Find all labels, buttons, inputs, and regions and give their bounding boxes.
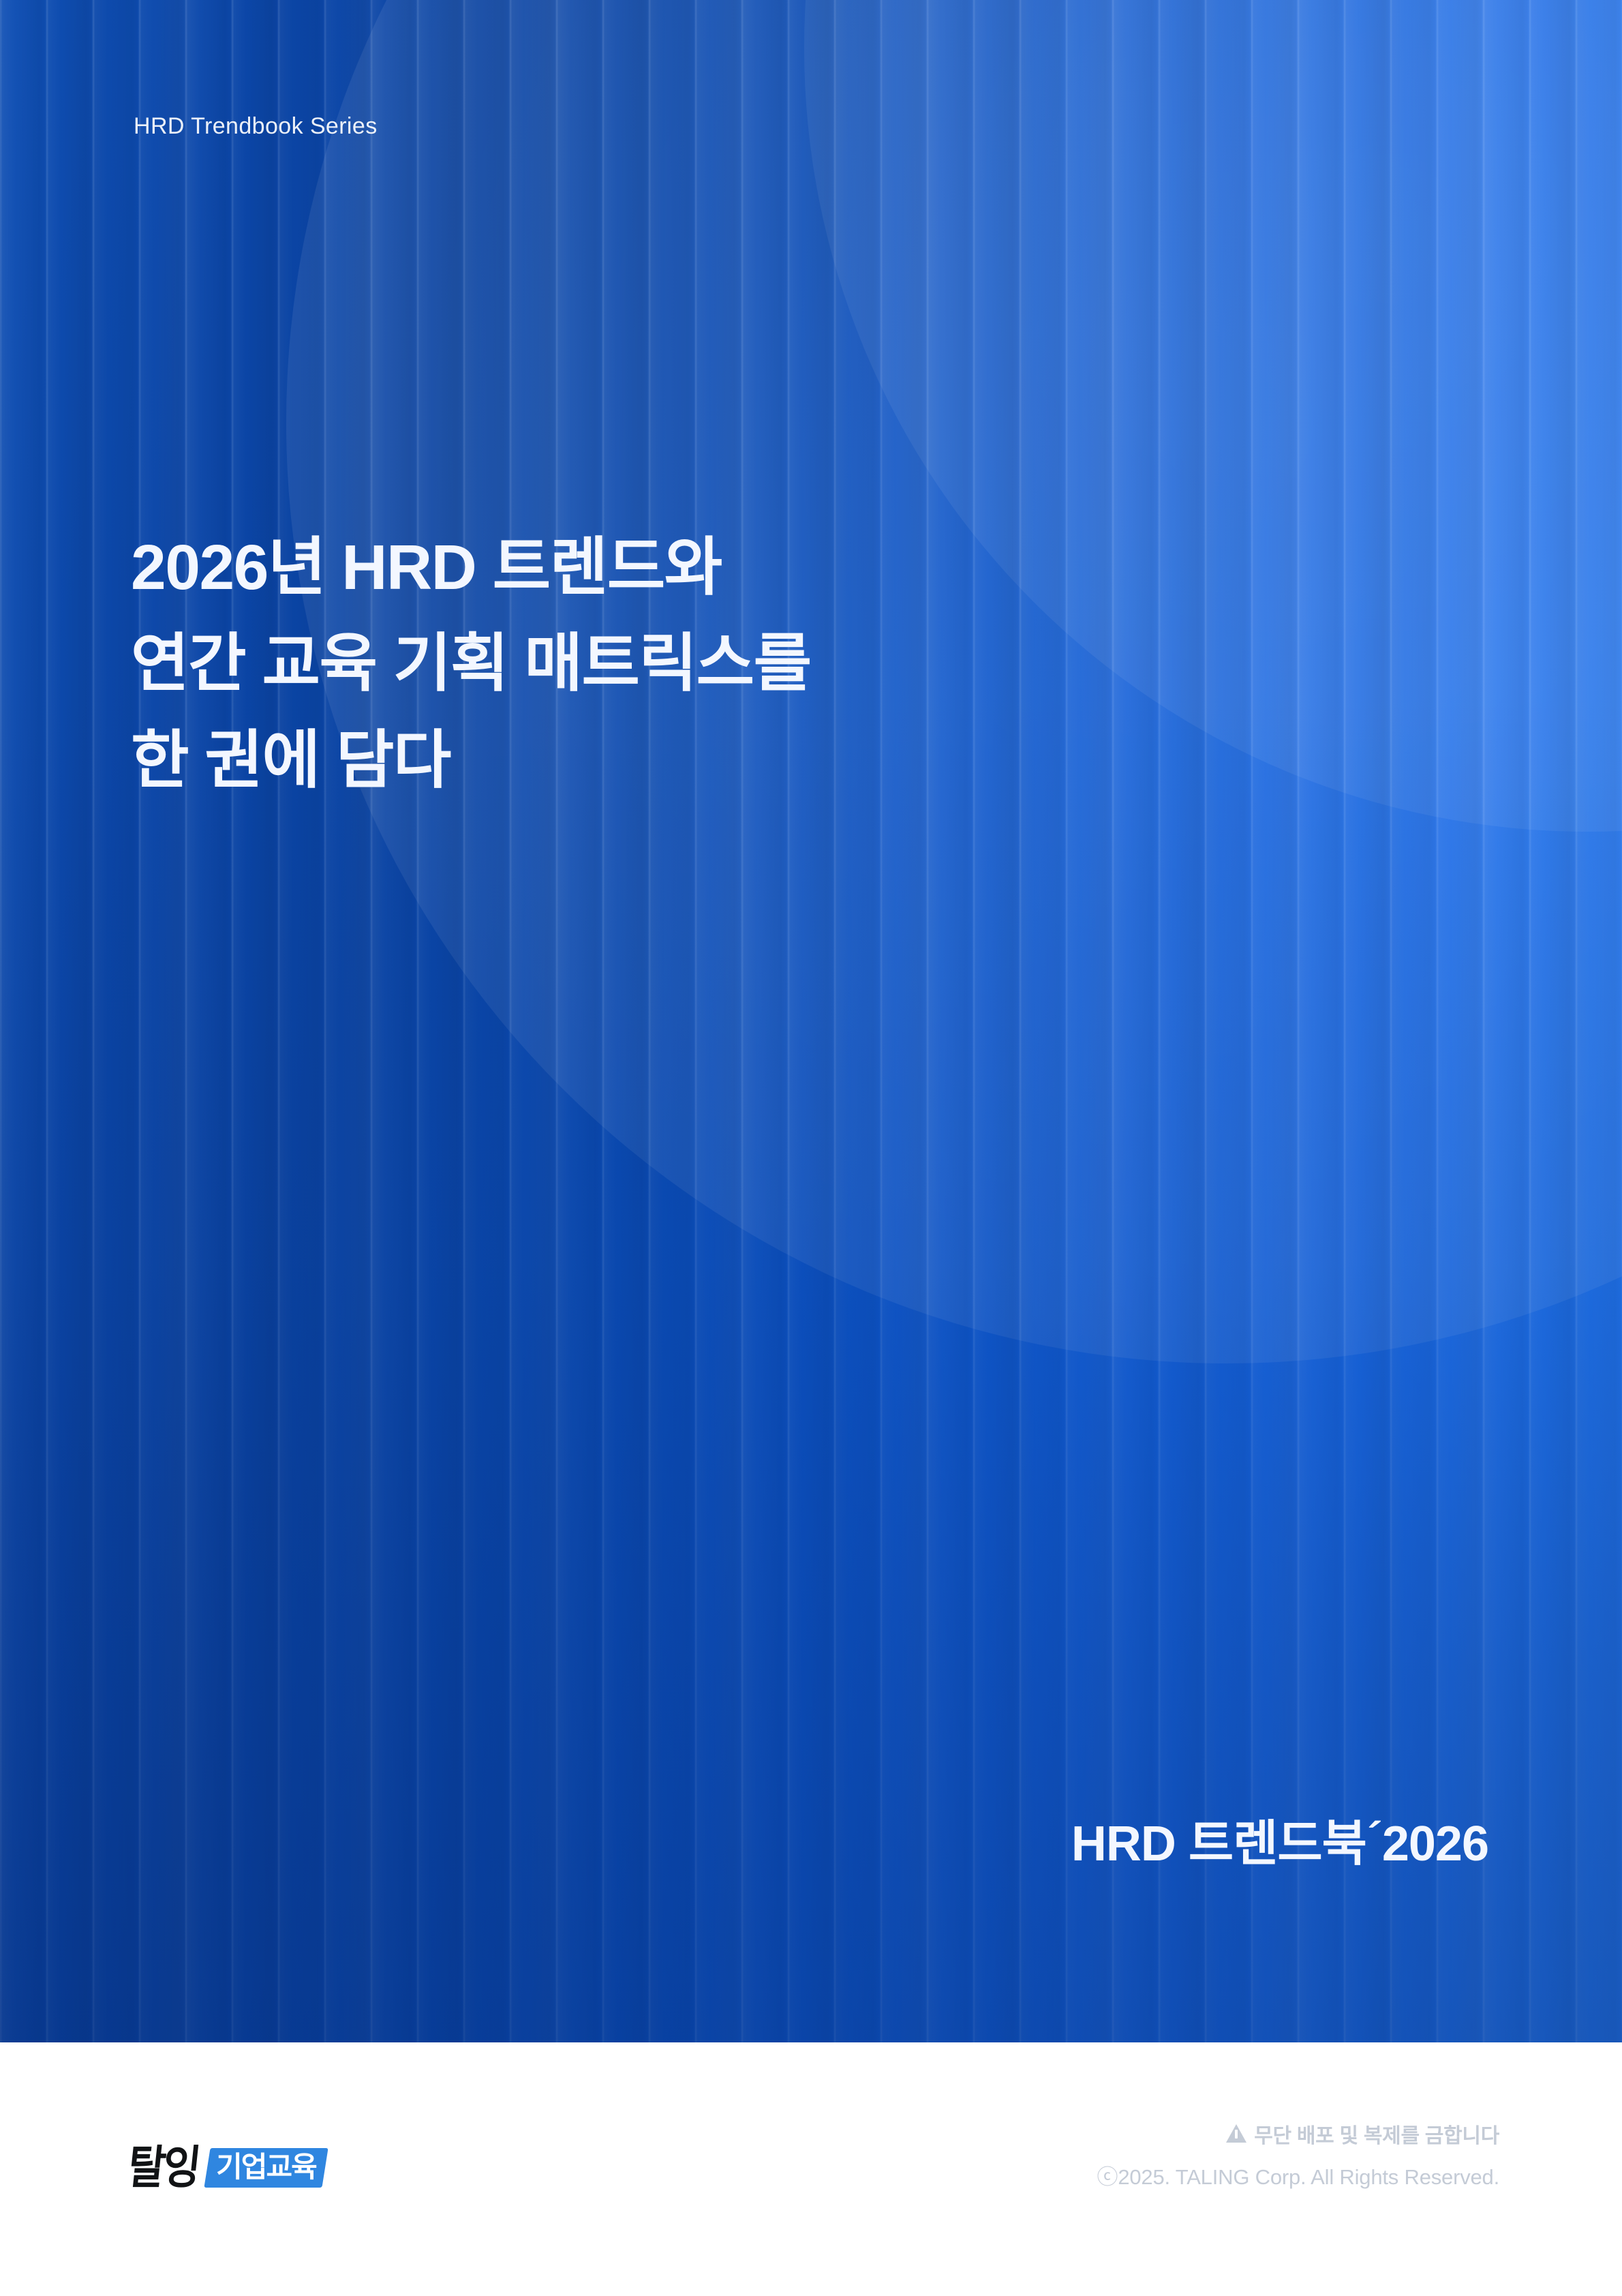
copy-warning: 무단 배포 및 복제를 금합니다 — [1097, 2119, 1499, 2149]
page-title: 2026년 HRD 트렌드와 연간 교육 기획 매트릭스를 한 권에 담다 — [131, 519, 1194, 809]
corporate-education-badge: 기업교육 — [204, 2148, 328, 2188]
vertical-shade-overlay — [0, 0, 1622, 2042]
corporate-education-badge-label: 기업교육 — [217, 2153, 317, 2181]
title-line-1: 2026년 HRD 트렌드와 — [131, 519, 1194, 616]
taling-wordmark: 탈잉 — [125, 2145, 200, 2190]
title-line-3: 한 권에 담다 — [131, 712, 1194, 809]
panel-seam-lines — [0, 0, 1622, 2042]
series-title-label: HRD 트렌드북 — [1071, 1817, 1366, 1871]
vertical-stripe-texture-wide — [0, 0, 1622, 2042]
footer-notices: 무단 배포 및 복제를 금합니다 ⓒ2025. TALING Corp. All… — [1097, 2119, 1499, 2190]
cover-artwork — [0, 0, 1622, 2042]
copy-warning-label: 무단 배포 및 복제를 금합니다 — [1254, 2119, 1499, 2149]
series-eyebrow: HRD Trendbook Series — [134, 113, 378, 140]
vertical-stripe-texture — [0, 0, 1622, 2042]
series-title: HRD 트렌드북´2026 — [1071, 1803, 1488, 1875]
series-year: 2026 — [1382, 1817, 1488, 1871]
series-apostrophe: ´ — [1364, 1812, 1382, 1864]
copyright-notice: ⓒ2025. TALING Corp. All Rights Reserved. — [1097, 2160, 1499, 2190]
title-line-2: 연간 교육 기획 매트릭스를 — [131, 616, 1194, 712]
taling-logo[interactable]: 탈잉 기업교육 — [128, 2136, 325, 2199]
cover-page: HRD Trendbook Series 2026년 HRD 트렌드와 연간 교… — [0, 0, 1622, 2296]
warning-triangle-icon — [1226, 2124, 1246, 2143]
